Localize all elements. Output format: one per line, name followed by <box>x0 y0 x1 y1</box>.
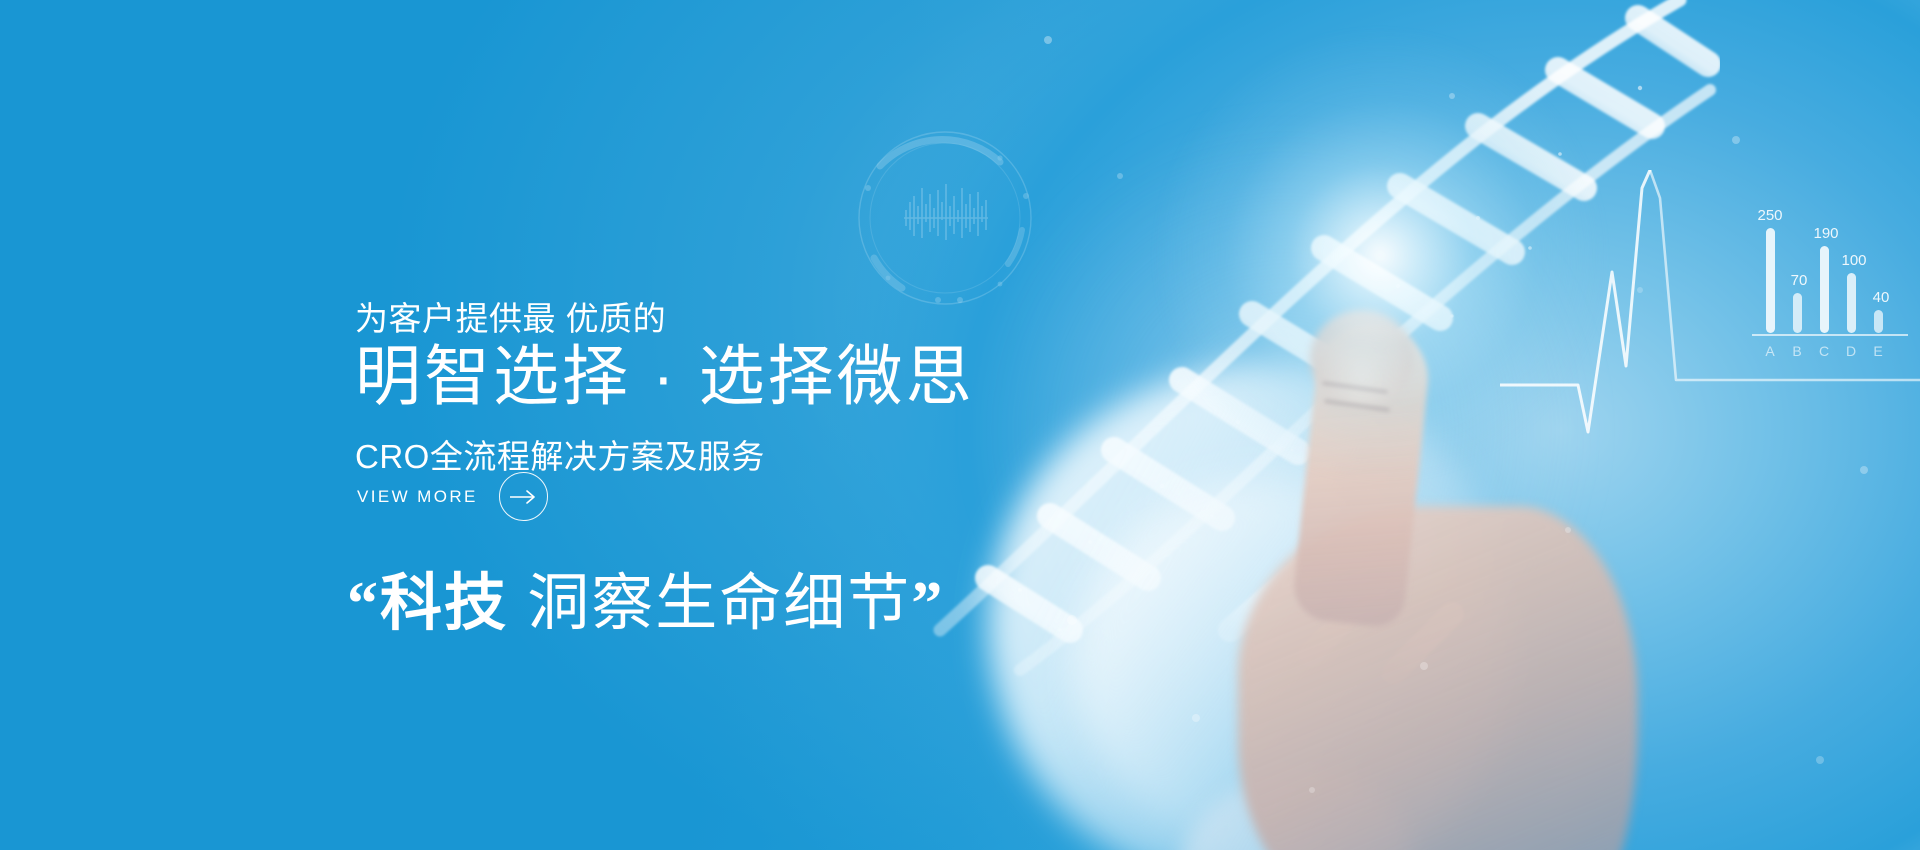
hud-bar-chart: 250 70 190 100 40 A B C D E <box>1742 188 1920 378</box>
hero-content: 为客户提供最 优质的 CRO全流程解决方案及服务 明智选择 · 选择微思 VIE… <box>355 0 1255 850</box>
svg-text:70: 70 <box>1791 272 1808 289</box>
quote-normal-text: 洞察生命细节 <box>508 569 911 638</box>
arrow-right-icon[interactable] <box>499 472 548 521</box>
hero-banner: 250 70 190 100 40 A B C D E <box>0 0 1920 850</box>
view-more-label: VIEW MORE <box>357 487 478 507</box>
svg-text:100: 100 <box>1841 252 1866 269</box>
svg-text:250: 250 <box>1757 207 1782 224</box>
chart-bars <box>1766 228 1883 333</box>
view-more-button[interactable]: VIEW MORE <box>357 472 548 521</box>
svg-text:E: E <box>1873 343 1882 359</box>
quote-open-mark: “ <box>347 570 380 638</box>
svg-text:D: D <box>1846 343 1856 359</box>
quote-bold-text: 科技 <box>380 569 508 638</box>
svg-text:40: 40 <box>1873 289 1890 306</box>
hero-headline: 明智选择 · 选择微思 <box>355 336 975 416</box>
svg-text:C: C <box>1819 343 1829 359</box>
svg-text:A: A <box>1765 343 1775 359</box>
quote-close-mark: ” <box>911 570 944 638</box>
hero-quote: “科技 洞察生命细节” <box>347 562 944 646</box>
svg-text:B: B <box>1792 343 1801 359</box>
svg-text:190: 190 <box>1813 225 1838 242</box>
